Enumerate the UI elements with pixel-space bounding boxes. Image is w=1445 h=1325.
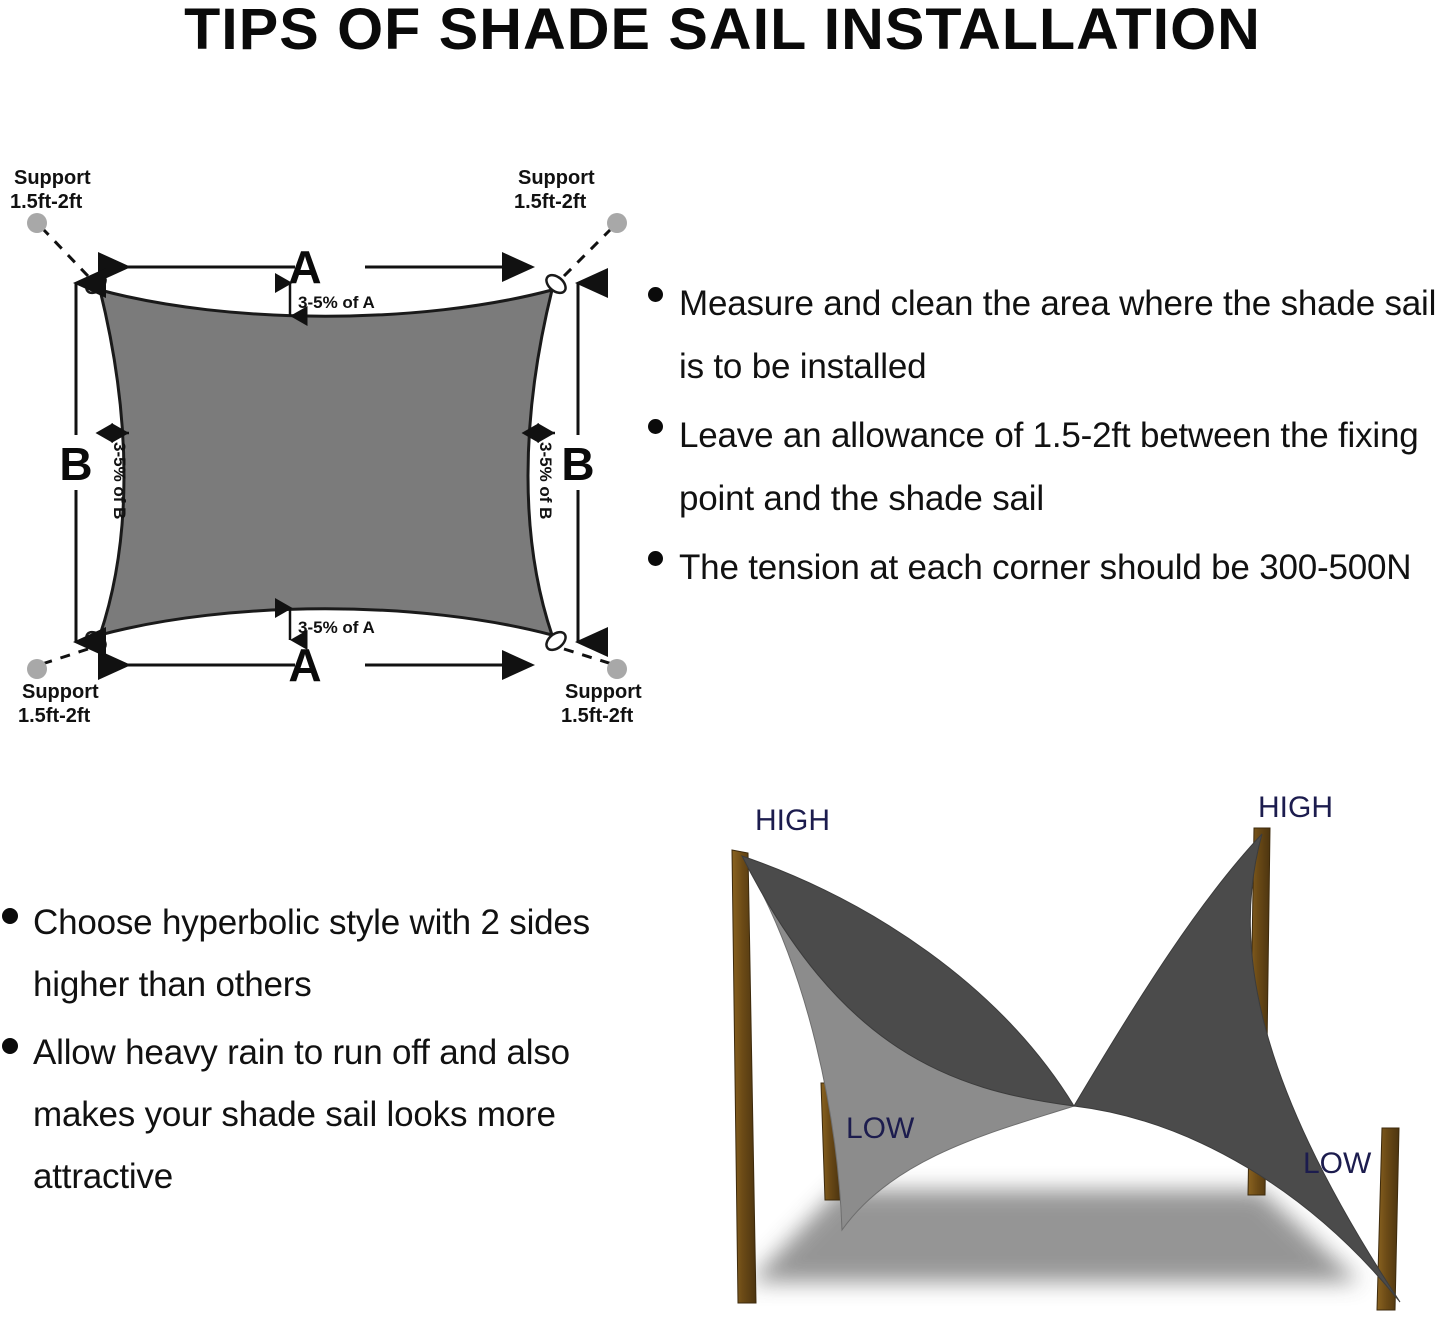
- list-item: Allow heavy rain to run off and also mak…: [2, 1022, 622, 1208]
- label-curvature-left: 3-5% of B: [110, 442, 129, 519]
- support-dot-bottom-left: [27, 659, 47, 679]
- label-b-left: B: [59, 438, 92, 490]
- rect-sail-diagram: Support 1.5ft-2ft Support 1.5ft-2ft Supp…: [0, 150, 660, 740]
- bullet-text: Allow heavy rain to run off and also mak…: [33, 1022, 622, 1208]
- list-item: Measure and clean the area where the sha…: [648, 272, 1445, 398]
- support-label-bottom-left: Support 1.5ft-2ft: [18, 681, 99, 727]
- bullet-dot-icon: [648, 287, 663, 302]
- support-br-line2: 1.5ft-2ft: [561, 705, 634, 727]
- label-a-bottom: A: [288, 639, 321, 691]
- bullet-text: The tension at each corner should be 300…: [679, 536, 1411, 599]
- bullet-text: Choose hyperbolic style with 2 sides hig…: [33, 892, 622, 1016]
- list-item: Leave an allowance of 1.5-2ft between th…: [648, 404, 1445, 530]
- post-top-left: [732, 850, 756, 1303]
- list-item: The tension at each corner should be 300…: [648, 536, 1445, 599]
- tips-list-right: Measure and clean the area where the sha…: [648, 272, 1445, 605]
- support-label-top-right: Support 1.5ft-2ft: [514, 167, 595, 213]
- support-dot-top-left: [27, 213, 47, 233]
- support-tr-line2: 1.5ft-2ft: [514, 191, 587, 213]
- bullet-text: Leave an allowance of 1.5-2ft between th…: [679, 404, 1445, 530]
- infographic-page: TIPS OF SHADE SAIL INSTALLATION: [0, 0, 1445, 1319]
- support-bl-line2: 1.5ft-2ft: [18, 705, 91, 727]
- support-line-top-right: [564, 228, 612, 276]
- support-label-top-left: Support 1.5ft-2ft: [10, 167, 91, 213]
- bullet-dot-icon: [2, 908, 18, 924]
- label-curvature-top: 3-5% of A: [298, 293, 375, 312]
- support-br-line1: Support: [565, 681, 642, 703]
- support-tl-line2: 1.5ft-2ft: [10, 191, 83, 213]
- page-title: TIPS OF SHADE SAIL INSTALLATION: [0, 0, 1445, 62]
- tips-list-left: Choose hyperbolic style with 2 sides hig…: [2, 892, 622, 1214]
- post-label-low-left: LOW: [846, 1112, 915, 1145]
- support-dot-bottom-right: [607, 659, 627, 679]
- hyperbolic-sail-diagram: HIGH HIGH LOW LOW: [670, 790, 1445, 1320]
- post-label-high-left: HIGH: [755, 804, 830, 837]
- bullet-dot-icon: [648, 419, 663, 434]
- bullet-dot-icon: [2, 1038, 18, 1054]
- support-line-bottom-right: [564, 649, 612, 664]
- support-tl-line1: Support: [14, 167, 91, 189]
- list-item: Choose hyperbolic style with 2 sides hig…: [2, 892, 622, 1016]
- label-curvature-bottom: 3-5% of A: [298, 618, 375, 637]
- support-label-bottom-right: Support 1.5ft-2ft: [561, 681, 642, 727]
- label-b-right: B: [561, 438, 594, 490]
- support-line-bottom-left: [42, 649, 88, 664]
- label-curvature-right: 3-5% of B: [536, 442, 555, 519]
- post-label-high-right: HIGH: [1258, 791, 1333, 824]
- support-line-top-left: [42, 228, 88, 276]
- support-dot-top-right: [607, 213, 627, 233]
- bullet-text: Measure and clean the area where the sha…: [679, 272, 1445, 398]
- label-a-top: A: [288, 241, 321, 293]
- support-bl-line1: Support: [22, 681, 99, 703]
- support-tr-line1: Support: [518, 167, 595, 189]
- sail-shape: [100, 290, 552, 635]
- bullet-dot-icon: [648, 551, 663, 566]
- post-label-low-right: LOW: [1303, 1147, 1372, 1180]
